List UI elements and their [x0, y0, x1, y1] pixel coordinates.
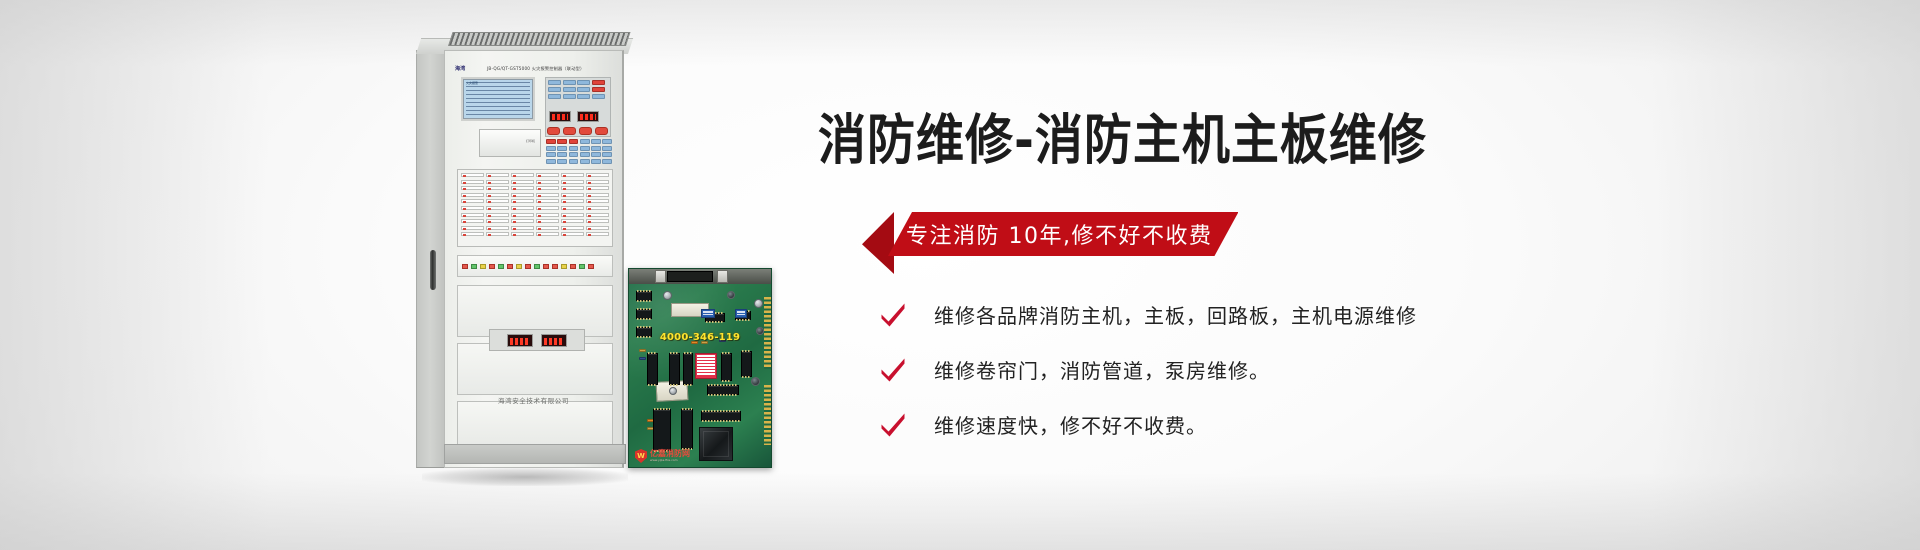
ribbon-arrow-tail: [862, 212, 894, 274]
check-icon: [880, 303, 906, 327]
service-feature-list: 维修各品牌消防主机，主板，回路板，主机电源维修 维修卷帘门，消防管道，泵房维修。…: [880, 300, 1417, 439]
list-item: 维修卷帘门，消防管道，泵房维修。: [880, 355, 1417, 384]
page-title: 消防维修-消防主机主板维修: [818, 96, 1427, 174]
promo-ribbon: 专注消防 10年,修不好不收费: [888, 212, 1238, 256]
promo-ribbon-text: 专注消防 10年,修不好不收费: [906, 218, 1212, 250]
list-item-label: 维修卷帘门，消防管道，泵房维修。: [934, 355, 1270, 384]
check-icon: [880, 358, 906, 382]
list-item: 维修各品牌消防主机，主板，回路板，主机电源维修: [880, 300, 1417, 329]
fire-service-promo-banner: 海湾 JB-QG/QT-GST5000 火灾报警控制器（联动型） 火灾报警: [0, 0, 1920, 550]
banner-copy-area: 消防维修-消防主机主板维修 专注消防 10年,修不好不收费 维修各品牌消防主机，…: [0, 0, 1920, 550]
list-item-label: 维修速度快，修不好不收费。: [934, 410, 1207, 439]
list-item: 维修速度快，修不好不收费。: [880, 410, 1417, 439]
list-item-label: 维修各品牌消防主机，主板，回路板，主机电源维修: [934, 300, 1417, 329]
check-icon: [880, 413, 906, 437]
